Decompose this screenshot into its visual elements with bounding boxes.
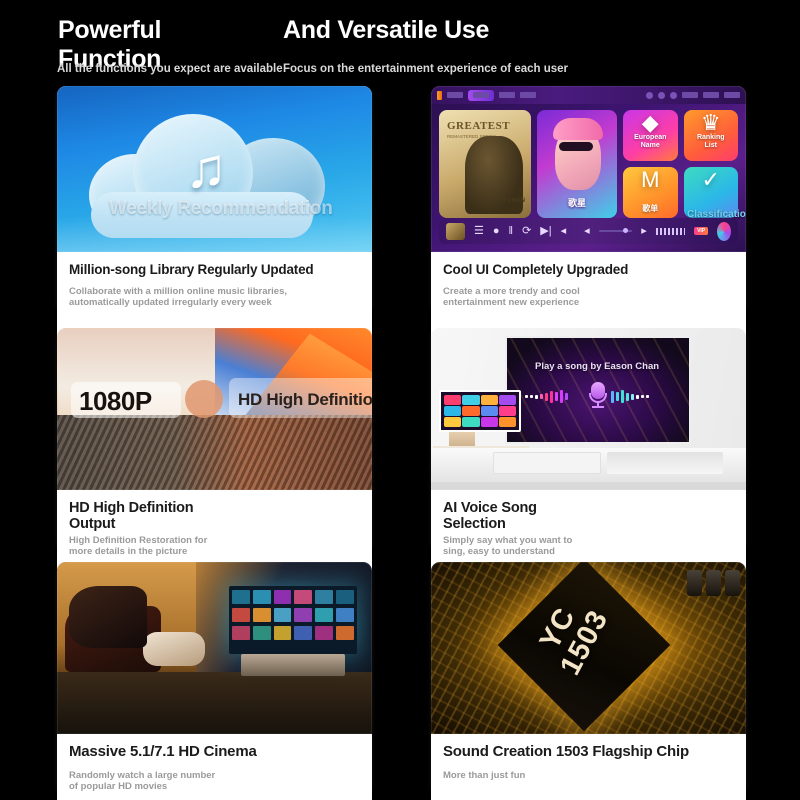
feature-card-cool-ui[interactable]: GREATEST REMASTERED SERIES YY CHAN 歌星 ◆ bbox=[431, 86, 746, 312]
comparison-knob[interactable] bbox=[185, 380, 223, 418]
tile-album[interactable]: GREATEST REMASTERED SERIES YY CHAN bbox=[439, 110, 531, 218]
ktv-top-bar[interactable] bbox=[431, 86, 746, 104]
nav-label-four[interactable] bbox=[682, 92, 698, 98]
card-description: Create a more trendy and cool entertainm… bbox=[443, 286, 734, 308]
ktv-tile-grid: GREATEST REMASTERED SERIES YY CHAN 歌星 ◆ bbox=[439, 110, 738, 218]
card-media-ai-voice: Play a song by Eason Chan bbox=[431, 328, 746, 490]
seated-person bbox=[69, 586, 147, 648]
music-note-icon: ♫ bbox=[185, 140, 227, 196]
desktop-monitor bbox=[439, 390, 521, 432]
label-plate-right bbox=[229, 378, 372, 418]
equalizer-icon[interactable]: ☰ bbox=[474, 226, 484, 237]
feature-card-ai-voice[interactable]: Play a song by Eason Chan bbox=[431, 328, 746, 550]
sunglasses-icon bbox=[559, 142, 593, 151]
page-subtitle-right: Focus on the entertainment experience of… bbox=[283, 63, 568, 75]
tile-singer[interactable]: 歌星 bbox=[537, 110, 617, 218]
nav-label-two[interactable] bbox=[499, 92, 515, 98]
card-media-home-cinema bbox=[57, 562, 372, 734]
tile-european-name[interactable]: ◆ European Name bbox=[623, 110, 678, 161]
label-plate-left bbox=[71, 382, 181, 418]
equalizer-right bbox=[611, 390, 649, 403]
feature-card-weekly-recommendation[interactable]: ♫ Weekly Recommendation Million-song Lib… bbox=[57, 86, 372, 312]
pause-icon[interactable]: ‖ bbox=[509, 226, 514, 237]
tile-mv-label: 歌单 bbox=[623, 203, 678, 214]
message-icon[interactable] bbox=[658, 92, 665, 99]
person-icon[interactable]: ● bbox=[493, 226, 500, 237]
now-playing-thumbnail[interactable] bbox=[446, 223, 465, 240]
refresh-icon[interactable] bbox=[646, 92, 653, 99]
ottoman bbox=[143, 632, 205, 666]
card-title: AI Voice Song Selection bbox=[443, 500, 734, 532]
television bbox=[229, 586, 357, 654]
nav-label-three[interactable] bbox=[520, 92, 536, 98]
tile-european-label: European Name bbox=[623, 134, 678, 150]
card-media-chip: YC 1503 bbox=[431, 562, 746, 734]
card-title: Million-song Library Regularly Updated bbox=[69, 262, 360, 278]
mute-icon[interactable]: ◂ bbox=[561, 226, 567, 237]
tv-console bbox=[431, 448, 746, 482]
card-description: More than just fun bbox=[443, 770, 734, 781]
cloud-icon: ♫ bbox=[81, 108, 331, 228]
card-description: High Definition Restoration for more det… bbox=[69, 535, 360, 557]
settings-icon[interactable] bbox=[670, 92, 677, 99]
diamond-icon: ◆ bbox=[642, 110, 659, 136]
equalizer-left bbox=[525, 390, 568, 403]
nav-tab-selected[interactable] bbox=[468, 90, 494, 101]
living-room-floor bbox=[57, 672, 372, 734]
tile-classification[interactable]: ✓ bbox=[684, 167, 739, 218]
card-body: Massive 5.1/7.1 HD Cinema Randomly watch… bbox=[57, 734, 372, 800]
tile-column: ◆ European Name ♛ Ranking List M 歌单 bbox=[623, 110, 738, 218]
trophy-icon: ♛ bbox=[701, 110, 721, 136]
check-icon: ✓ bbox=[702, 167, 720, 193]
next-icon[interactable]: ▶| bbox=[540, 226, 551, 237]
tile-ranking-label: Ranking List bbox=[684, 134, 739, 150]
nav-label-five[interactable] bbox=[703, 92, 719, 98]
tile-ranking-list[interactable]: ♛ Ranking List bbox=[684, 110, 739, 161]
card-title: Massive 5.1/7.1 HD Cinema bbox=[69, 744, 360, 760]
card-media-hd-comparison: 1080P HD High Definition bbox=[57, 328, 372, 490]
tv-cabinet bbox=[241, 654, 345, 676]
feature-card-hd-output[interactable]: 1080P HD High Definition HD High Definit… bbox=[57, 328, 372, 550]
vip-badge: VIP bbox=[694, 227, 708, 235]
card-description: Collaborate with a million online music … bbox=[69, 286, 360, 308]
tile-singer-label: 歌星 bbox=[537, 196, 617, 209]
volume-down-icon[interactable]: ◂ bbox=[584, 226, 590, 237]
feature-grid-page: Powerful Function And Versatile Use All … bbox=[0, 0, 800, 800]
page-subtitle-left: All the functions you expect are availab… bbox=[57, 63, 283, 75]
card-media-cloud: ♫ Weekly Recommendation bbox=[57, 86, 372, 252]
refresh-icon[interactable]: ⟳ bbox=[522, 226, 531, 237]
mv-icon: M bbox=[641, 167, 659, 193]
tile-album-tag: YY CHAN bbox=[498, 198, 525, 204]
card-title: HD High Definition Output bbox=[69, 500, 360, 532]
media-shine bbox=[57, 216, 372, 252]
tile-mv[interactable]: M 歌单 bbox=[623, 167, 678, 218]
singer-hat bbox=[553, 118, 603, 140]
volume-up-icon[interactable]: ▸ bbox=[641, 226, 647, 237]
avatar[interactable] bbox=[717, 222, 731, 241]
rock-foreground bbox=[57, 415, 372, 490]
card-title: Cool UI Completely Upgraded bbox=[443, 262, 734, 278]
page-title-right: And Versatile Use bbox=[283, 16, 489, 45]
microphone-icon bbox=[589, 382, 607, 408]
nav-label-six[interactable] bbox=[724, 92, 740, 98]
ktv-player-bar[interactable]: ☰ ● ‖ ⟳ ▶| ◂ ◂ ▸ VIP bbox=[439, 218, 738, 244]
card-body: Sound Creation 1503 Flagship Chip More t… bbox=[431, 734, 746, 800]
card-title: Sound Creation 1503 Flagship Chip bbox=[443, 744, 734, 760]
capacitors bbox=[687, 570, 740, 596]
card-description: Randomly watch a large number of popular… bbox=[69, 770, 360, 792]
app-logo-icon bbox=[437, 91, 442, 100]
tile-album-title: GREATEST bbox=[447, 120, 510, 132]
card-media-ktv-ui: GREATEST REMASTERED SERIES YY CHAN 歌星 ◆ bbox=[431, 86, 746, 252]
spectrum-display bbox=[656, 228, 685, 235]
feature-card-chip[interactable]: YC 1503 Sound Creation 1503 Flagship Chi… bbox=[431, 562, 746, 794]
volume-slider[interactable] bbox=[599, 230, 633, 232]
nav-label-home[interactable] bbox=[447, 92, 463, 98]
card-description: Simply say what you want to sing, easy t… bbox=[443, 535, 734, 557]
feature-card-cinema[interactable]: Massive 5.1/7.1 HD Cinema Randomly watch… bbox=[57, 562, 372, 794]
